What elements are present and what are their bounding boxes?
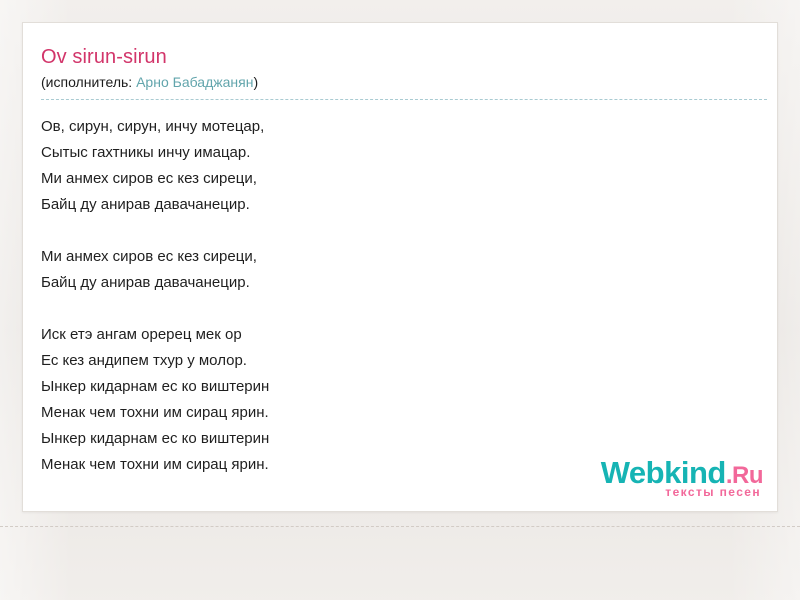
artist-link[interactable]: Арно Бабаджанян	[136, 74, 253, 90]
lyric-line: Байц ду анирав давачанецир.	[41, 192, 759, 218]
lyrics-body: Ов, сирун, сирун, инчу мотецар,Сытыс гах…	[41, 100, 759, 478]
lyric-line: Байц ду анирав давачанецир.	[41, 270, 759, 296]
lyric-line: Ес кез андипем тхур у молор.	[41, 348, 759, 374]
lyric-line: Ынкер кидарнам ес ко виштерин	[41, 426, 759, 452]
lyric-line-spacer	[41, 296, 759, 322]
lyric-line: Иск етэ ангам оререц мек ор	[41, 322, 759, 348]
artist-byline: (исполнитель: Арно Бабаджанян)	[41, 73, 759, 99]
page-divider	[0, 526, 800, 527]
song-card: Ov sirun-sirun (исполнитель: Арно Бабадж…	[22, 22, 778, 512]
lyric-line: Менак чем тохни им сирац ярин.	[41, 400, 759, 426]
lyric-line: Ов, сирун, сирун, инчу мотецар,	[41, 114, 759, 140]
lyric-line: Ынкер кидарнам ес ко виштерин	[41, 374, 759, 400]
byline-suffix-label: )	[253, 74, 258, 90]
page-title: Ov sirun-sirun	[41, 45, 759, 69]
site-logo: Webkind.Ru тексты песен	[601, 457, 763, 499]
lyric-line: Ми анмех сиров ес кез сиреци,	[41, 244, 759, 270]
lyric-line: Ми анмех сиров ес кез сиреци,	[41, 166, 759, 192]
byline-prefix-label: (исполнитель:	[41, 74, 136, 90]
lyric-line: Сытыс гахтникы инчу имацар.	[41, 140, 759, 166]
lyric-line-spacer	[41, 218, 759, 244]
